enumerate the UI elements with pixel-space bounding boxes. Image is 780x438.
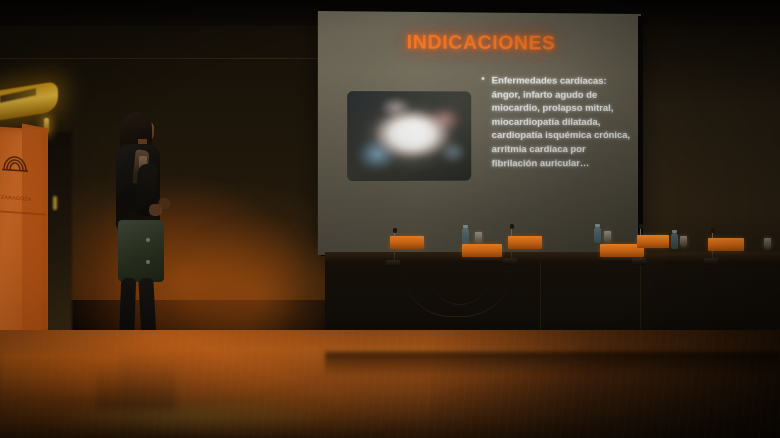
microphone-head [510,224,514,229]
water-bottle-cap [595,224,600,227]
stage-floor-shadowed [430,330,780,438]
heart-illustration [347,91,471,181]
microphone-head [711,228,715,233]
water-bottle [671,233,678,249]
slide-bullet-item: Enfermedades cardíacas: ángor, infarto a… [481,73,633,169]
drinking-glass [764,238,771,249]
projection-screen: INDICACIONES Enfermedades cardíacas: áng… [318,11,641,255]
microphone-base [386,260,400,267]
table-nameplate [508,236,542,249]
stage-floor-reflection [20,396,440,438]
panel-table-shadow [325,352,780,376]
water-bottle-cap [672,230,677,233]
microphone-base [704,258,718,265]
conference-photo-scene: ZARAGOZA INDICACIONES Enfermedades cardí… [0,0,780,438]
water-bottle [462,228,469,244]
presenter-hand-right [158,198,170,209]
microphone-base [503,258,517,265]
table-nameplate [462,244,502,257]
drinking-glass [475,232,482,243]
presenter-hair [122,112,152,148]
screen-frame-right [638,16,643,252]
microphone-head [639,224,643,229]
slide-heart-image [347,91,471,181]
arch-logo-icon [1,147,29,173]
slide-body-text: Enfermedades cardíacas: ángor, infarto a… [481,73,633,169]
presenter-skirt-button-top [146,238,150,242]
microphone-base [632,258,646,265]
drinking-glass [680,236,687,247]
projected-slide: INDICACIONES Enfermedades cardíacas: áng… [318,11,641,255]
presenter [96,112,192,364]
table-nameplate [390,236,424,249]
water-bottle-cap [463,225,468,228]
doorway-light-highlight [53,196,57,210]
table-nameplate [637,235,669,248]
presenter-skirt-button-bottom [146,260,150,264]
microphone-head [393,228,397,233]
presenter-floor-reflection [96,352,176,410]
drinking-glass [604,231,611,242]
doorway-gap [46,132,72,342]
table-nameplate [708,238,744,251]
wall-seam-line [0,58,330,59]
slide-title: INDICACIONES [318,32,641,56]
presenter-skirt [118,220,164,282]
water-bottle [594,227,601,243]
